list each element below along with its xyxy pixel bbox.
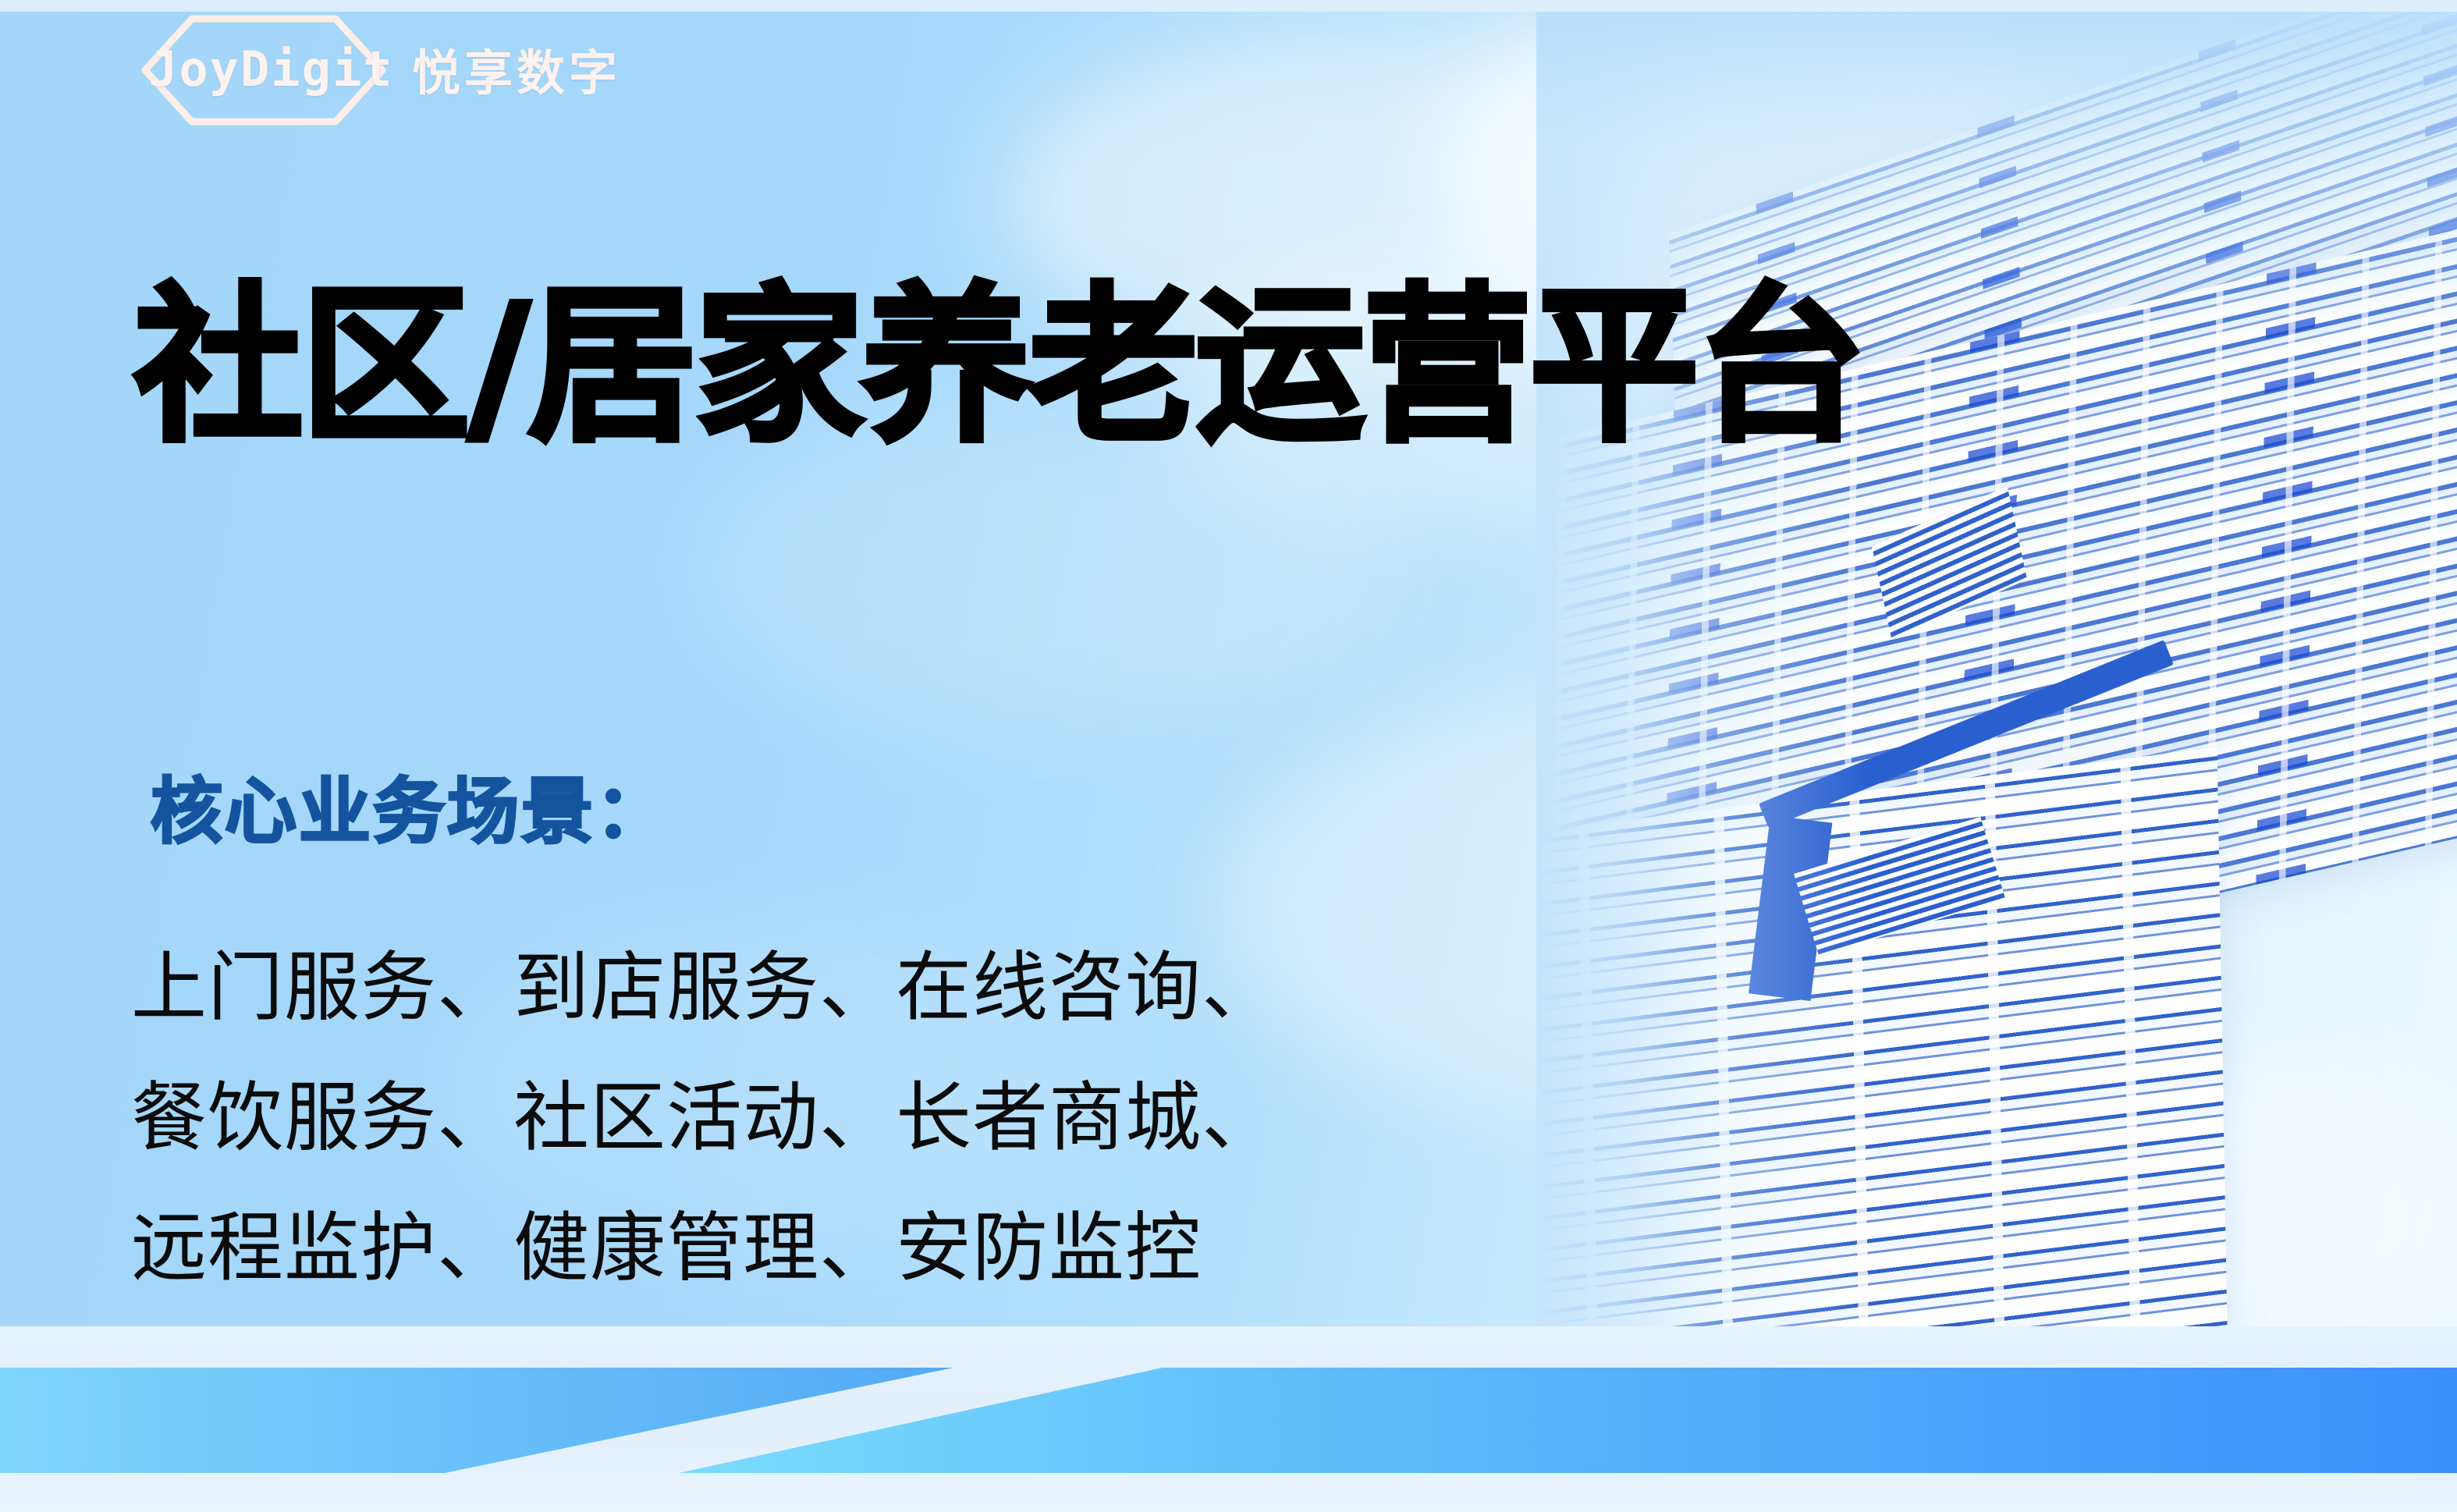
- slide-canvas: JoyDigit 悦享数字 社区/居家养老运营平台 核心业务场景： 上门服务、到…: [0, 0, 2457, 1512]
- page-title: 社区/居家养老运营平台: [134, 282, 1864, 451]
- section-heading-core-scenarios: 核心业务场景：: [151, 776, 669, 848]
- scenario-line: 远程监护、健康管理、安防监控: [131, 1184, 1278, 1314]
- scenario-line: 上门服务、到店服务、在线咨询、: [131, 923, 1278, 1053]
- logo-wordmark-cn: 悦享数字: [412, 34, 621, 104]
- hexagon-outline-icon: JoyDigit: [131, 22, 389, 115]
- ribbon-shapes-svg: [0, 1326, 2457, 1512]
- scenario-line: 餐饮服务、社区活动、长者商城、: [131, 1053, 1278, 1184]
- top-edge-strip: [0, 0, 2457, 12]
- footer-ribbon: [0, 1326, 2457, 1512]
- skyscraper-photo: [1536, 0, 2457, 1381]
- scenario-list: 上门服务、到店服务、在线咨询、 餐饮服务、社区活动、长者商城、 远程监护、健康管…: [131, 923, 1278, 1313]
- brand-logo[interactable]: JoyDigit 悦享数字: [131, 22, 621, 115]
- logo-wordmark-en: JoyDigit: [131, 41, 394, 98]
